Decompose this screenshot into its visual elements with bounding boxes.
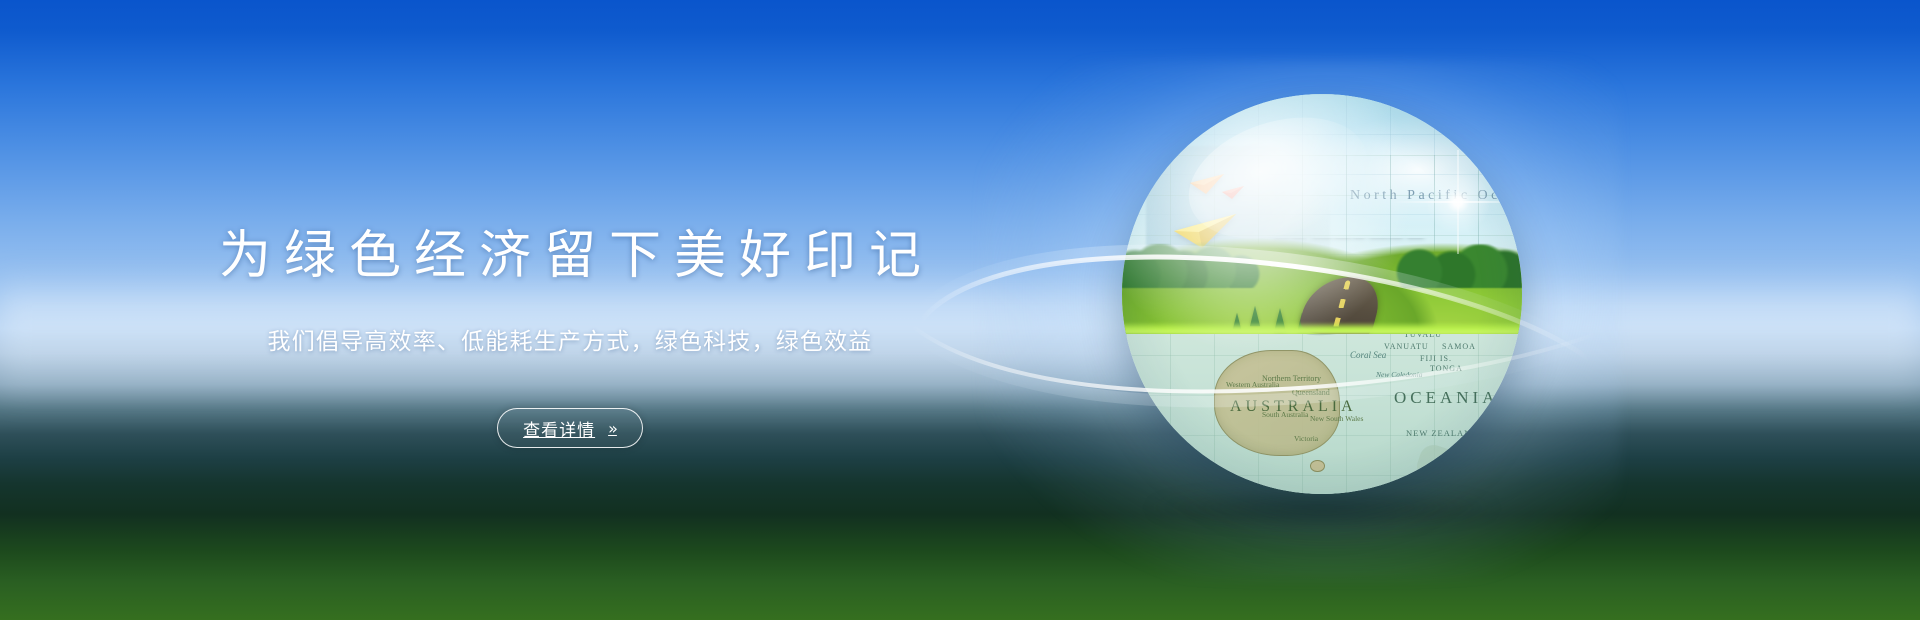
globe-ground-shadow: [1150, 488, 1494, 528]
chevron-right-icon: »: [608, 419, 617, 438]
hill-rim-light: [1122, 322, 1522, 334]
view-details-label: 查看详情: [523, 416, 595, 441]
cta-row: 查看详情 »: [0, 408, 1140, 448]
hero-banner: North Pacific Ocean AUSTRALIA OCEANIA IN…: [0, 0, 1920, 620]
tree-line: [1122, 244, 1522, 288]
page-title: 为绿色经济留下美好印记: [0, 230, 1140, 282]
glass-sphere: North Pacific Ocean AUSTRALIA OCEANIA IN…: [1122, 94, 1522, 494]
globe-illustration: North Pacific Ocean AUSTRALIA OCEANIA IN…: [1122, 94, 1522, 494]
green-island: [1122, 238, 1522, 334]
red-paper-plane-icon: [1222, 186, 1244, 204]
page-subtitle: 我们倡导高效率、低能耗生产方式，绿色科技，绿色效益: [0, 330, 1140, 353]
landmass-australia: [1214, 350, 1340, 456]
view-details-button[interactable]: 查看详情 »: [497, 408, 643, 448]
orange-paper-plane-icon: [1190, 174, 1224, 199]
